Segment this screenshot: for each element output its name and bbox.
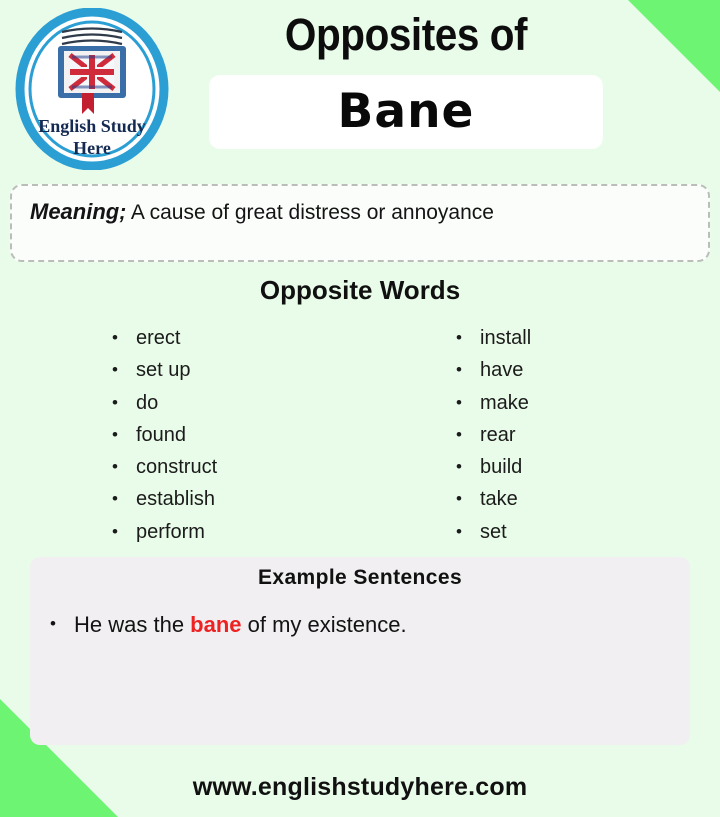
logo-line-1: English Study	[38, 116, 146, 136]
list-item: erect	[112, 322, 360, 354]
list-item: install	[456, 322, 720, 354]
list-item: set	[456, 516, 720, 548]
logo-line-2: Here	[73, 138, 111, 158]
list-item: do	[112, 387, 360, 419]
meaning-line: Meaning; A cause of great distress or an…	[30, 199, 708, 226]
list-item: set up	[112, 354, 360, 386]
poster-canvas: English Study Here Opposites of Bane Mea…	[0, 0, 720, 817]
footer-website: www.englishstudyhere.com	[0, 772, 720, 802]
page-title: Opposites of	[199, 8, 613, 62]
sentence-keyword: bane	[190, 612, 241, 637]
meaning-label: Meaning	[30, 199, 119, 224]
opposite-words-columns: erect set up do found construct establis…	[0, 322, 720, 548]
list-item: make	[456, 387, 720, 419]
list-item: have	[456, 354, 720, 386]
english-study-here-logo: English Study Here	[14, 8, 170, 170]
headword-card: Bane	[210, 76, 602, 148]
meaning-separator: ;	[119, 201, 126, 224]
meaning-box: Meaning; A cause of great distress or an…	[10, 184, 710, 262]
opposite-words-column-left: erect set up do found construct establis…	[0, 322, 360, 548]
opposite-words-column-right: install have make rear build take set	[360, 322, 720, 548]
list-item: establish	[112, 483, 360, 515]
headword: Bane	[338, 87, 475, 137]
meaning-text: A cause of great distress or annoyance	[131, 201, 494, 224]
example-sentences-box: Example Sentences He was the bane of my …	[30, 557, 690, 745]
list-item: construct	[112, 451, 360, 483]
sentence-prefix: He was the	[74, 612, 190, 637]
poster-header: English Study Here Opposites of Bane	[0, 0, 720, 176]
example-sentences-list: He was the bane of my existence.	[30, 590, 690, 639]
list-item: found	[112, 419, 360, 451]
sentence-suffix: of my existence.	[242, 612, 407, 637]
title-block: Opposites of Bane	[176, 8, 636, 148]
list-item: rear	[456, 419, 720, 451]
list-item: build	[456, 451, 720, 483]
opposite-words-heading: Opposite Words	[0, 275, 720, 305]
list-item: take	[456, 483, 720, 515]
example-sentences-heading: Example Sentences	[30, 557, 690, 590]
list-item: perform	[112, 516, 360, 548]
list-item: He was the bane of my existence.	[46, 611, 690, 639]
